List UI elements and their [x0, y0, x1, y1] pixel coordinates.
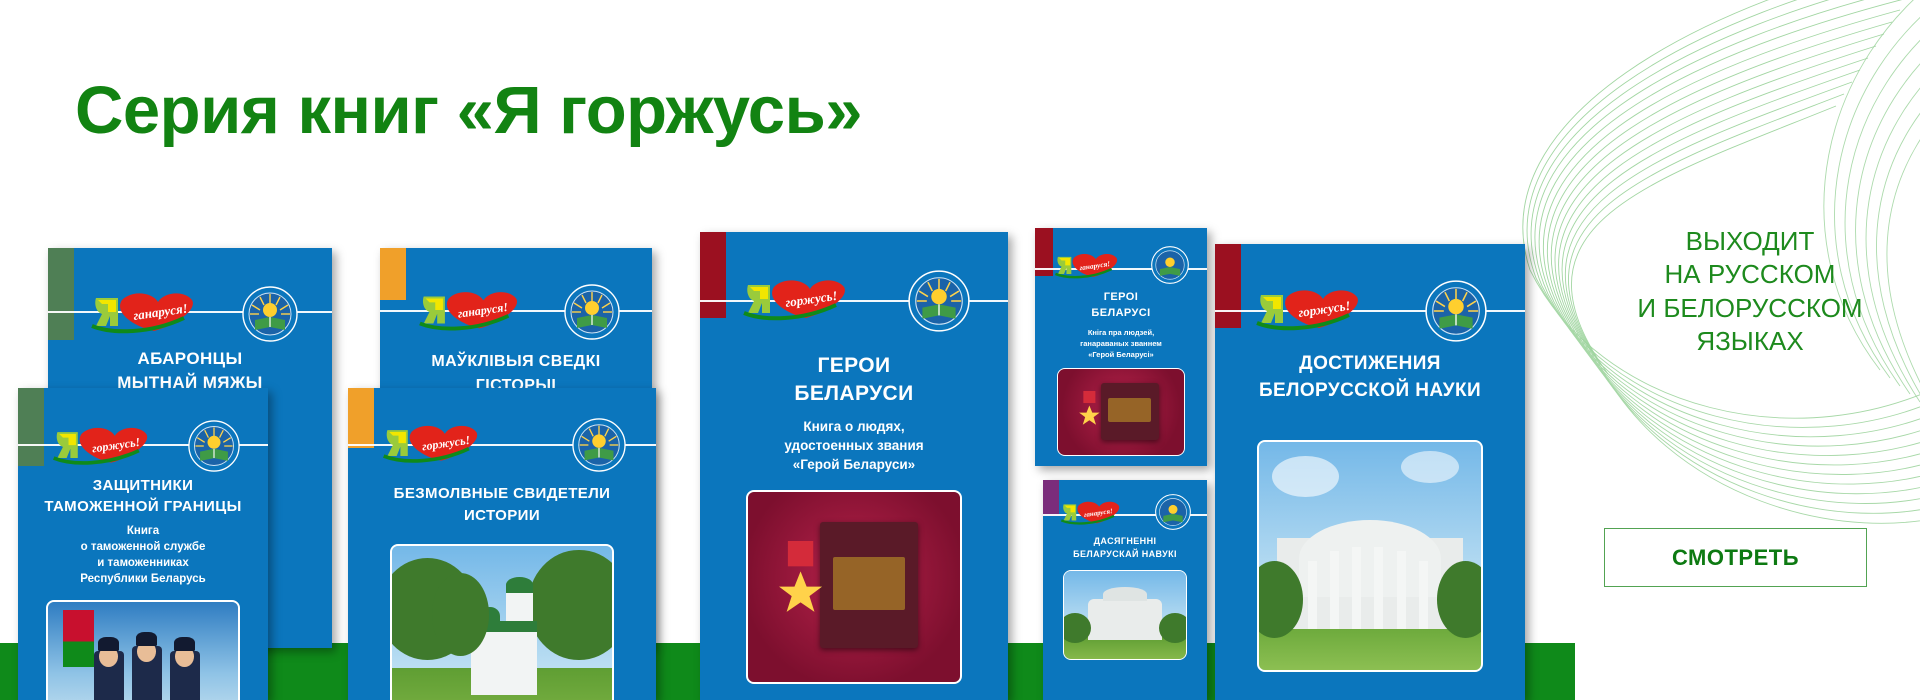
ministry-emblem-icon — [1425, 280, 1487, 342]
book-cover-bezmolvnye[interactable]: горжусь! БЕЗМОЛВНЫЕ СВИДЕТЕЛИ ИСТОРИИ — [348, 388, 656, 700]
ya-gorzhus-logo: ганаруся! — [88, 292, 196, 334]
book-title-line1: АБАРОНЦЫ — [48, 348, 332, 370]
book-tab-color — [1043, 480, 1059, 516]
book-title-line1: ГЕРОИ — [700, 352, 1008, 379]
ya-ganarusya-logo: ганаруся! — [1059, 500, 1121, 526]
book-subtitle-line4: Республики Беларусь — [18, 572, 268, 588]
book-photo-customs-officers — [46, 600, 240, 700]
book-photo-academy-of-sciences — [1257, 440, 1483, 672]
book-subtitle-line2: удостоенных звания — [700, 437, 1008, 455]
book-subtitle-line1: Книга о людях, — [700, 418, 1008, 436]
book-tab-color — [48, 248, 74, 340]
book-title-line2: ИСТОРИИ — [348, 506, 656, 526]
availability-line-2: НА РУССКОМ — [1600, 258, 1900, 291]
book-title-line1: МАЎКЛІВЫЯ СВЕДКІ — [380, 352, 652, 373]
book-subtitle-line3: «Герой Беларуси» — [700, 456, 1008, 474]
book-tab-color — [18, 388, 44, 466]
watch-button[interactable]: СМОТРЕТЬ — [1604, 528, 1867, 587]
book-title-line2: БЕЛАРУСИ — [700, 380, 1008, 407]
ministry-emblem-icon — [1151, 246, 1189, 284]
book-cover-dasyagnenni[interactable]: ганаруся! ДАСЯГНЕННІ БЕЛАРУСКАЙ НАВУКІ — [1043, 480, 1207, 700]
book-photo-st-sophia-cathedral — [390, 544, 614, 700]
ya-ganarusya-logo: ганаруся! — [416, 290, 520, 332]
book-tab-color — [1215, 244, 1241, 328]
ya-gorzhus-logo: горжусь! — [1253, 288, 1361, 332]
book-subtitle-line1: Книга — [18, 524, 268, 540]
book-title-line2: ТАМОЖЕННОЙ ГРАНИЦЫ — [18, 497, 268, 517]
ministry-emblem-icon — [1155, 494, 1191, 530]
book-subtitle-line3: и таможенниках — [18, 556, 268, 572]
book-title-line2: БЕЛАРУСІ — [1035, 306, 1207, 320]
bottom-white-strip — [1575, 643, 1920, 700]
book-tab-color — [348, 388, 374, 448]
book-photo-hero-medal — [746, 490, 962, 684]
book-cover-geroi-belarusi-be[interactable]: ганаруся! ГЕРОІ БЕЛАРУСІ Кніга пра людзе… — [1035, 228, 1207, 466]
book-cover-zashchitniki[interactable]: горжусь! ЗАЩИТНИКИ ТАМОЖЕННОЙ ГРАНИЦЫ Кн… — [18, 388, 268, 700]
ya-gorzhus-logo: горжусь! — [50, 426, 150, 466]
page-title: Серия книг «Я горжусь» — [75, 72, 862, 149]
ya-gorzhus-logo: горжусь! — [740, 278, 848, 322]
availability-line-4: ЯЗЫКАХ — [1600, 325, 1900, 358]
ministry-emblem-icon — [908, 270, 970, 332]
promo-banner: Серия книг «Я горжусь» ганаруся! — [0, 0, 1920, 700]
availability-line-1: ВЫХОДИТ — [1600, 225, 1900, 258]
ya-ganarusya-logo: ганаруся! — [1053, 252, 1119, 280]
book-photo-national-library — [1063, 570, 1187, 660]
book-title-line1: БЕЗМОЛВНЫЕ СВИДЕТЕЛИ — [348, 484, 656, 504]
book-subtitle-line2: ганараваных званнем — [1035, 339, 1207, 349]
book-title-line1: ДОСТИЖЕНИЯ — [1215, 352, 1525, 377]
book-title-line1: ГЕРОІ — [1035, 290, 1207, 304]
book-photo-hero-medal — [1057, 368, 1185, 456]
book-subtitle-line3: «Герой Беларусі» — [1035, 350, 1207, 360]
availability-note: ВЫХОДИТ НА РУССКОМ И БЕЛОРУССКОМ ЯЗЫКАХ — [1600, 225, 1900, 358]
book-title-line1: ДАСЯГНЕННІ — [1043, 536, 1207, 548]
book-subtitle-line2: о таможенной службе — [18, 540, 268, 556]
book-title-line2: БЕЛОРУССКОЙ НАУКИ — [1215, 379, 1525, 404]
book-tab-color — [700, 232, 726, 318]
ministry-emblem-icon — [572, 418, 626, 472]
ministry-emblem-icon — [564, 284, 620, 340]
availability-line-3: И БЕЛОРУССКОМ — [1600, 292, 1900, 325]
book-cover-geroi-belarusi-ru[interactable]: горжусь! ГЕРОИ БЕЛАРУСИ Книга о людях, у… — [700, 232, 1008, 700]
ministry-emblem-icon — [242, 286, 298, 342]
book-subtitle-line1: Кніга пра людзей, — [1035, 328, 1207, 338]
ya-gorzhus-logo: горжусь! — [380, 424, 480, 464]
book-tab-color — [380, 248, 406, 300]
book-title-line1: ЗАЩИТНИКИ — [18, 476, 268, 496]
ministry-emblem-icon — [188, 420, 240, 472]
book-title-line2: БЕЛАРУСКАЙ НАВУКІ — [1043, 549, 1207, 561]
book-cover-dostizheniya[interactable]: горжусь! ДОСТИЖЕНИЯ БЕЛОРУССКОЙ НАУКИ — [1215, 244, 1525, 700]
